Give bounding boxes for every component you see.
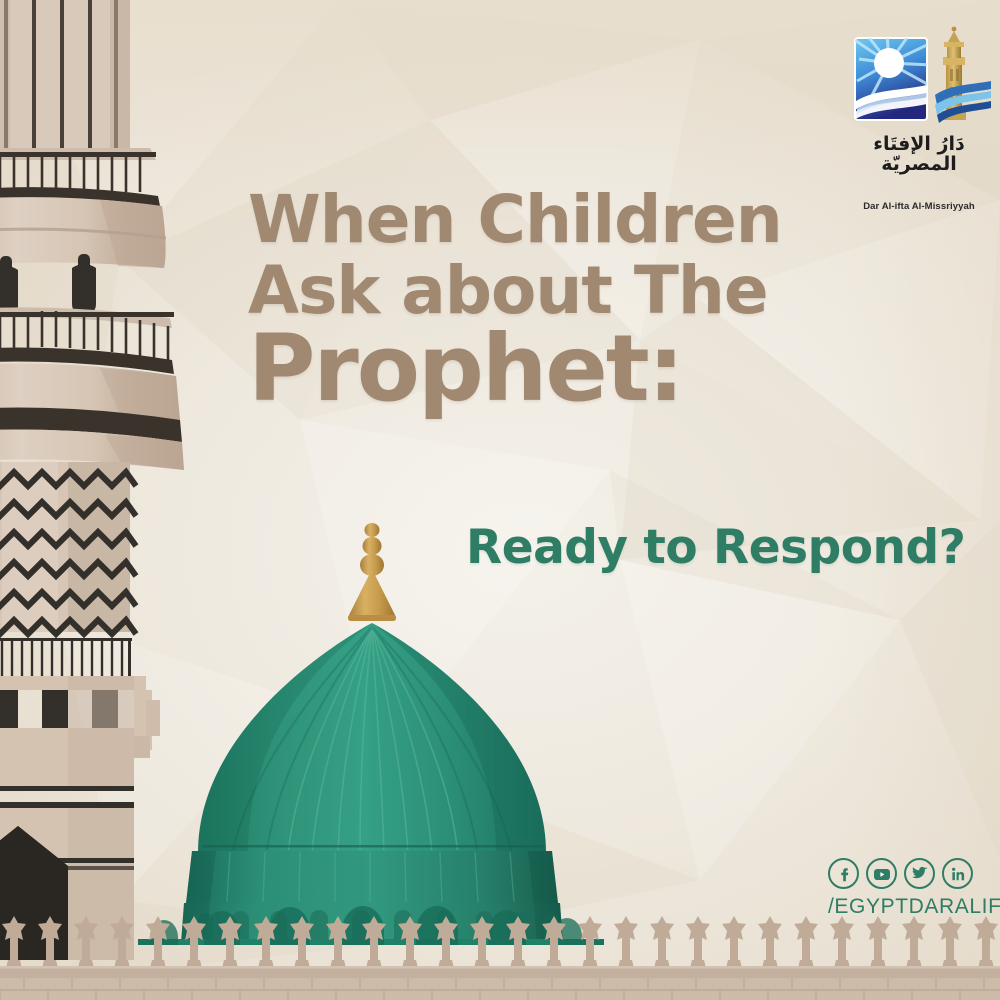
svg-text:دَارُ الإفتَاء: دَارُ الإفتَاء — [873, 133, 965, 155]
balustrade-and-wall — [0, 912, 1000, 1000]
linkedin-icon[interactable] — [942, 858, 973, 889]
poster-canvas: دَارُ الإفتَاء المصريّة Dar Al-ifta Al-M… — [0, 0, 1000, 1000]
facebook-icon[interactable] — [828, 858, 859, 889]
social-handle[interactable]: /EGYPTDARALIFTA — [828, 895, 990, 919]
headline-line-3: Prophet: — [248, 325, 978, 413]
dar-al-ifta-logo: دَارُ الإفتَاء المصريّة Dar Al-ifta Al-M… — [843, 25, 995, 195]
youtube-icon[interactable] — [866, 858, 897, 889]
svg-text:المصريّة: المصريّة — [881, 153, 957, 175]
twitter-icon[interactable] — [904, 858, 935, 889]
headline-line-1: When Children — [248, 188, 978, 251]
logo-arabic-calligraphy: دَارُ الإفتَاء المصريّة — [843, 128, 995, 176]
social-icon-row — [828, 858, 990, 889]
minaret-illustration — [0, 0, 210, 960]
headline-line-2: Ask about The — [248, 259, 978, 322]
logo-emblem-icon — [843, 25, 995, 130]
social-block: /EGYPTDARALIFTA — [828, 858, 990, 919]
subheadline: Ready to Respond? — [466, 520, 965, 575]
headline-block: When Children Ask about The Prophet: — [248, 188, 978, 413]
